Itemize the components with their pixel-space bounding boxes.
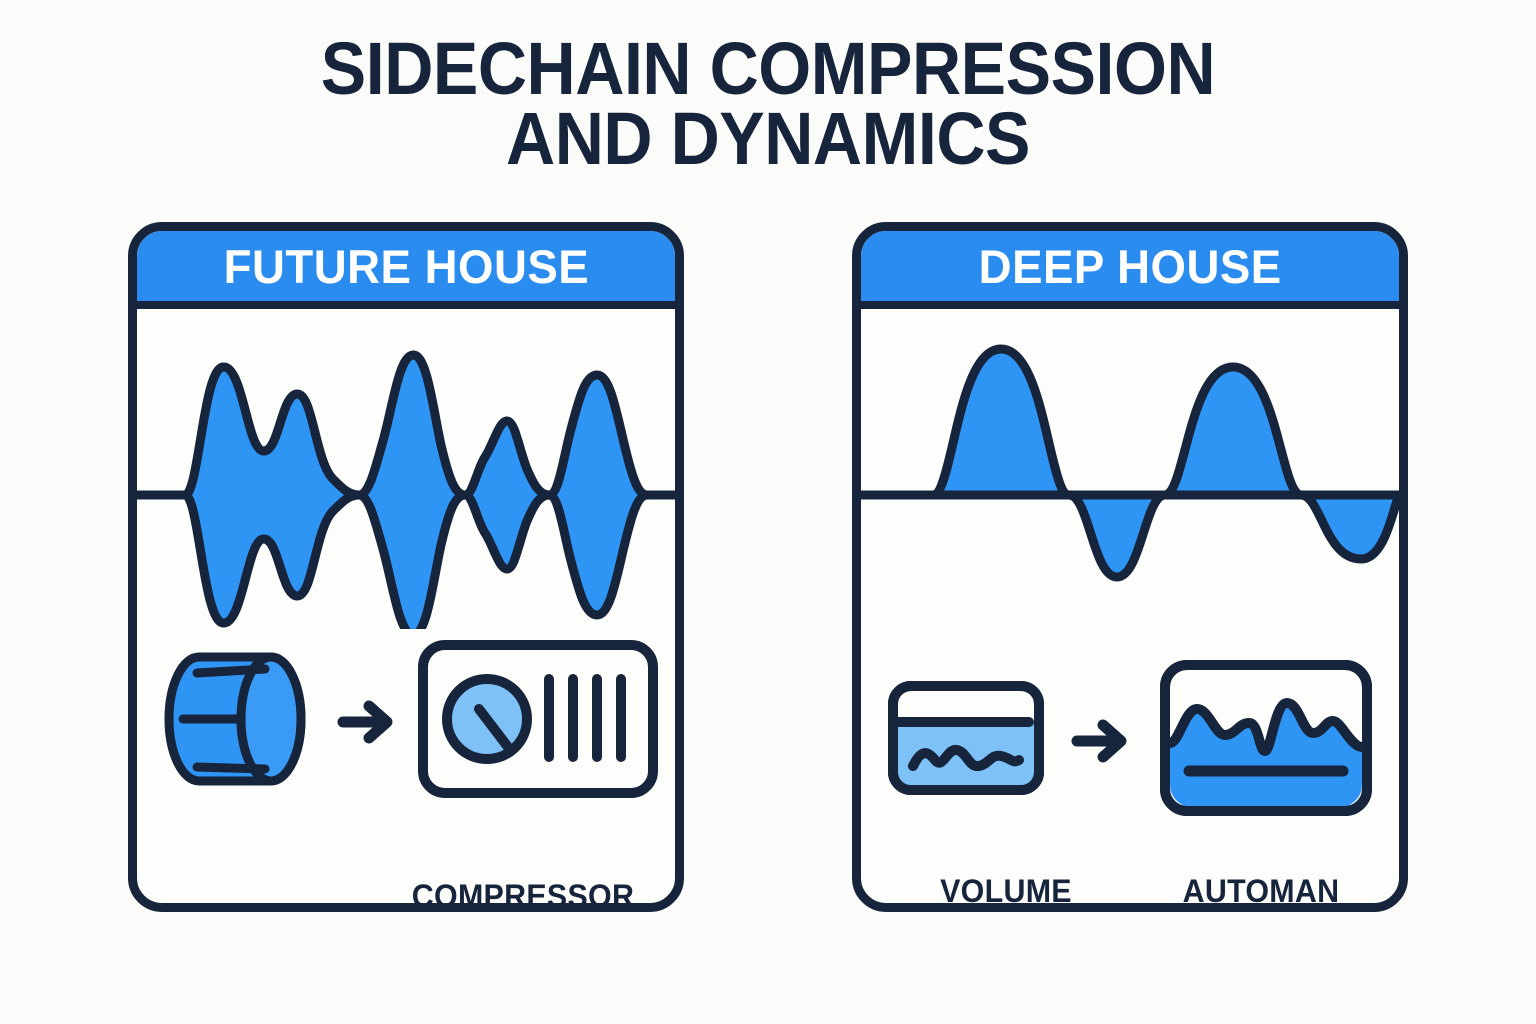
kick-label-group: KICK (175, 879, 375, 912)
kick-drum-icon (153, 643, 319, 800)
waveform-sine (861, 309, 1399, 629)
compressor-icon (417, 639, 659, 804)
icon-row-future-house (137, 639, 675, 804)
arrow-right-icon (337, 698, 399, 746)
card-header-future-house: FUTURE HOUSE (137, 231, 675, 309)
volume-automation-icon (887, 680, 1045, 801)
card-future-house: FUTURE HOUSE (128, 222, 684, 912)
label-row-deep-house: VOLUME AUTOMATION AUTOMAN & EQ CUTS (861, 874, 1399, 912)
card-header-label: FUTURE HOUSE (223, 239, 588, 294)
icon-row-deep-house (861, 659, 1399, 822)
compressor-label: COMPRESSOR (387, 879, 659, 912)
card-body-deep-house: VOLUME AUTOMATION AUTOMAN & EQ CUTS (861, 309, 1399, 903)
arrow-right-icon (1071, 717, 1133, 765)
eq-cuts-icon (1159, 659, 1373, 822)
eq-cuts-label: AUTOMAN & EQ CUTS (1141, 874, 1380, 912)
label-row-future-house: KICK COMPRESSOR (137, 879, 675, 912)
card-body-future-house: KICK COMPRESSOR (137, 309, 675, 903)
card-header-deep-house: DEEP HOUSE (861, 231, 1399, 309)
card-deep-house: DEEP HOUSE (852, 222, 1408, 912)
card-header-label: DEEP HOUSE (979, 239, 1282, 294)
infographic-canvas: SIDECHAIN COMPRESSION AND DYNAMICS FUTUR… (0, 0, 1536, 1024)
page-title: SIDECHAIN COMPRESSION AND DYNAMICS (61, 34, 1474, 175)
volume-automation-label: VOLUME AUTOMATION (883, 874, 1128, 912)
waveform-pumping-envelope (137, 309, 675, 629)
